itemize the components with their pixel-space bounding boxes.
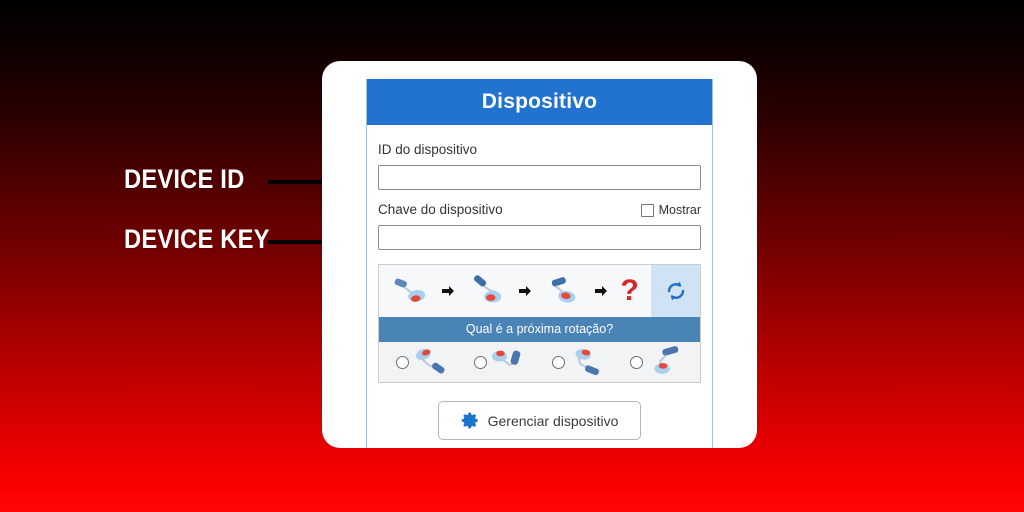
captcha-question: Qual é a próxima rotação? (379, 317, 700, 342)
device-key-label-row: Chave do dispositivo Mostrar (378, 200, 701, 220)
device-id-label: ID do dispositivo (378, 140, 701, 160)
device-key-label: Chave do dispositivo (378, 200, 503, 220)
manage-device-button-label: Gerenciar dispositivo (488, 413, 619, 429)
show-key-toggle[interactable]: Mostrar (641, 203, 701, 217)
rotated-object-icon-option-1 (411, 345, 449, 379)
device-key-input[interactable] (378, 225, 701, 250)
captcha-question-mark: ? (621, 276, 639, 306)
page-title: Dispositivo (482, 90, 597, 114)
sequence-arrow-icon-3 (594, 284, 608, 298)
sequence-arrow-icon-2 (518, 284, 532, 298)
annotation-label-device-id: DEVICE ID (124, 164, 244, 195)
show-key-checkbox[interactable] (641, 204, 654, 217)
show-key-label: Mostrar (659, 203, 701, 217)
screenshot-root: DEVICE ID DEVICE KEY Dispositivo ID do d… (0, 0, 1024, 512)
captcha-option-2[interactable] (474, 345, 527, 379)
captcha-radio-4[interactable] (630, 356, 643, 369)
gear-icon (461, 411, 480, 430)
captcha-options (379, 342, 700, 382)
captcha-option-3[interactable] (552, 345, 605, 379)
device-card: Dispositivo ID do dispositivo Chave do d… (322, 61, 757, 448)
refresh-glyph (664, 279, 688, 303)
captcha-option-1[interactable] (396, 345, 449, 379)
captcha-sequence: ? (379, 265, 651, 317)
rotated-object-icon-1 (391, 274, 429, 308)
rotated-object-icon-2 (468, 274, 506, 308)
captcha-radio-3[interactable] (552, 356, 565, 369)
refresh-icon[interactable] (651, 265, 700, 317)
captcha-radio-2[interactable] (474, 356, 487, 369)
captcha-option-4[interactable] (630, 345, 683, 379)
sequence-arrow-icon-1 (441, 284, 455, 298)
annotation-label-device-key: DEVICE KEY (124, 224, 270, 255)
rotated-object-icon-option-4 (645, 345, 683, 379)
rotated-object-icon-option-3 (567, 345, 605, 379)
panel-body: ID do dispositivo Chave do dispositivo M… (367, 125, 712, 440)
device-panel: Dispositivo ID do dispositivo Chave do d… (366, 79, 713, 448)
panel-header: Dispositivo (367, 79, 712, 125)
captcha-sequence-row: ? (379, 265, 700, 317)
rotation-captcha: ? Qual é a próxima rotação? (378, 264, 701, 383)
rotated-object-icon-3 (544, 274, 582, 308)
manage-button-row: Gerenciar dispositivo (378, 401, 701, 440)
rotated-object-icon-option-2 (489, 345, 527, 379)
device-id-input[interactable] (378, 165, 701, 190)
captcha-radio-1[interactable] (396, 356, 409, 369)
manage-device-button[interactable]: Gerenciar dispositivo (438, 401, 642, 440)
